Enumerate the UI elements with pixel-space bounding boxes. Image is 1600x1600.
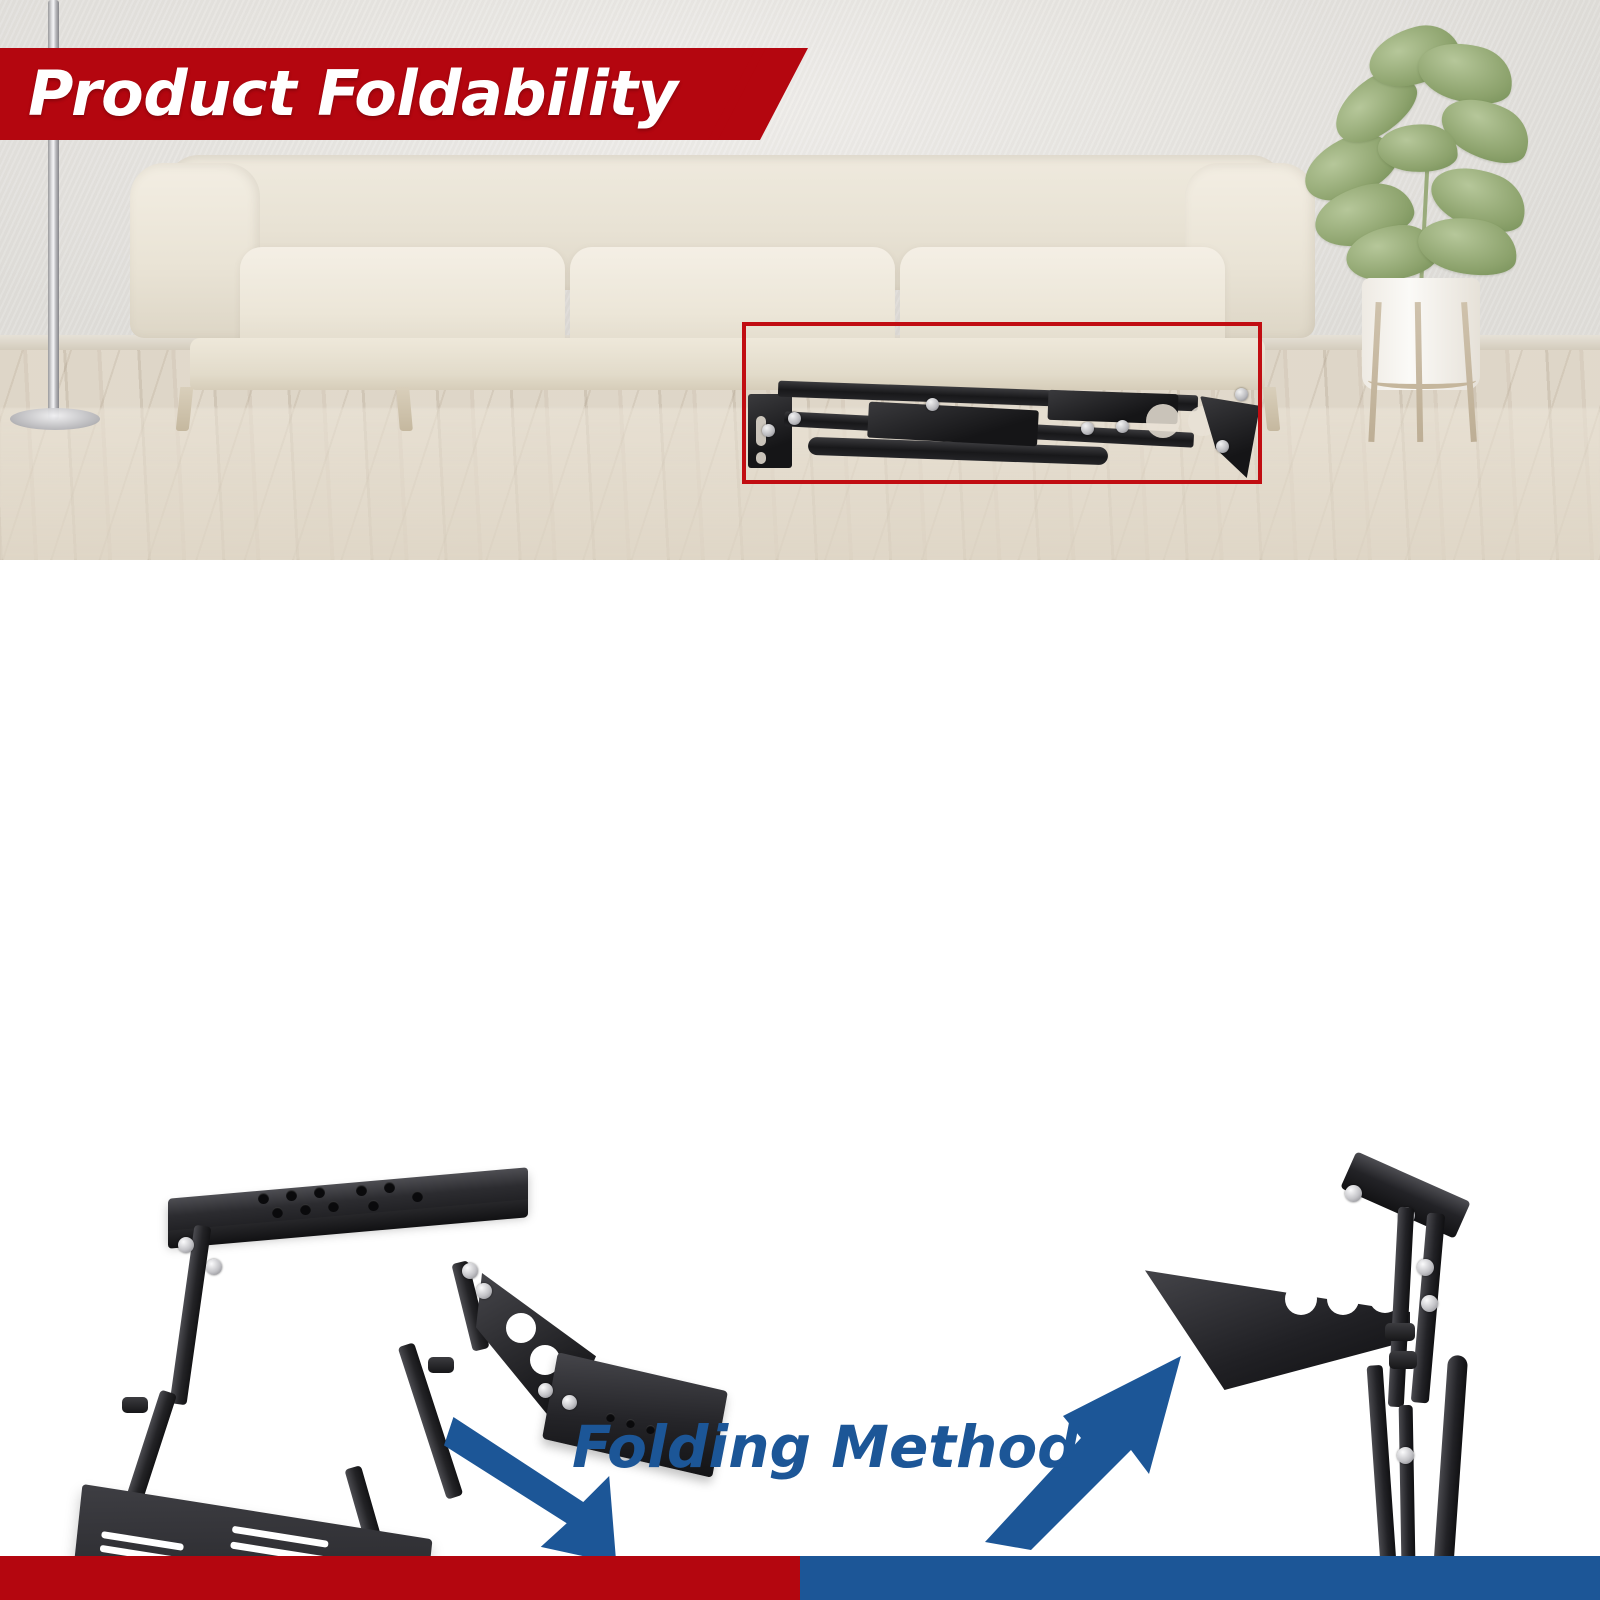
mount-hole — [412, 1191, 423, 1202]
screw-icon — [1421, 1295, 1438, 1312]
mount-hole — [272, 1207, 283, 1218]
screw-icon — [178, 1237, 194, 1253]
upright-left-upper — [170, 1225, 212, 1406]
sofa-leg — [396, 387, 413, 431]
screw-icon — [1417, 1259, 1434, 1276]
potted-plant — [1290, 20, 1540, 470]
lamp-base — [10, 408, 100, 430]
mount-hole — [300, 1204, 311, 1215]
screw-icon — [476, 1283, 492, 1299]
screw-icon — [206, 1259, 222, 1275]
mount-hole — [286, 1190, 297, 1201]
screw-icon — [1345, 1185, 1362, 1202]
mount-hole — [384, 1182, 395, 1193]
diagram-panel: Folding Method — [0, 560, 1600, 1556]
mount-hole — [258, 1193, 269, 1204]
product-stand-folded-upright — [1145, 1155, 1545, 1600]
folding-method-label: Folding Method — [572, 1413, 1079, 1481]
footer-bar-red — [0, 1556, 800, 1600]
lightening-hole — [1285, 1283, 1317, 1315]
sofa-leg — [1263, 387, 1281, 431]
adjust-knob — [1389, 1351, 1417, 1369]
infographic-page: Product Foldability — [0, 0, 1600, 1600]
mount-hole — [314, 1187, 325, 1198]
adjust-knob — [428, 1357, 454, 1373]
mount-hole — [328, 1201, 339, 1212]
mount-hole — [356, 1185, 367, 1196]
adjust-knob — [122, 1397, 148, 1413]
screw-icon — [462, 1263, 478, 1279]
highlight-box — [742, 322, 1262, 484]
mount-hole — [368, 1200, 379, 1211]
page-title: Product Foldability — [28, 52, 678, 136]
sofa-leg — [176, 387, 194, 431]
footer-bar — [0, 1556, 1600, 1600]
footer-bar-blue — [800, 1556, 1600, 1600]
lightening-hole — [506, 1313, 536, 1343]
lightening-hole — [1327, 1283, 1359, 1315]
adjust-knob — [1385, 1323, 1415, 1341]
screw-icon — [1397, 1447, 1414, 1464]
